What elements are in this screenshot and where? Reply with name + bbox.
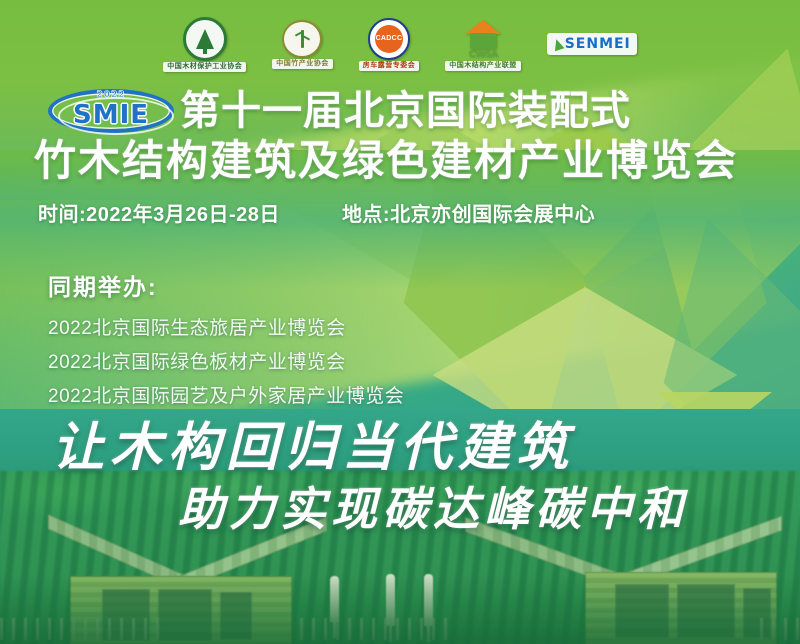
organizer-logo-cwsa: CWSA 中国木结构产业联盟: [445, 18, 521, 71]
house-roof-icon: [461, 18, 505, 52]
organizer-logo-cadcc: CADCC 房车露营专委会: [359, 18, 420, 71]
organizer-name: 中国竹产业协会: [272, 59, 333, 69]
foreground-shadow: [0, 574, 800, 644]
smie-logo: 2022 SMIE: [48, 89, 174, 133]
bamboo-oval-icon: [282, 20, 322, 58]
slogan-line-1: 让木构回归当代建筑: [0, 418, 800, 478]
slogan-line-2: 助力实现碳达峰碳中和: [0, 482, 800, 536]
concurrent-event-item: 2022北京国际绿色板材产业博览会: [48, 346, 404, 380]
organizer-logo-bamboo-industry-association: 中国竹产业协会: [272, 20, 333, 69]
concurrent-event-item: 2022北京国际园艺及户外家居产业博览会: [48, 380, 404, 414]
exhibition-poster: 中国木材保护工业协会 中国竹产业协会 CADCC 房车露营专委会 CWSA 中国…: [0, 0, 800, 644]
slogan-block: 让木构回归当代建筑 助力实现碳达峰碳中和: [0, 418, 800, 536]
tree-in-circle-icon: [183, 17, 227, 61]
page-title-line-2: 竹木结构建筑及绿色建材产业博览会: [0, 136, 800, 186]
headline-block: 2022 SMIE 第十一届北京国际装配式 竹木结构建筑及绿色建材产业博览会 时…: [0, 88, 800, 227]
organizer-name: 房车露营专委会: [359, 61, 420, 71]
concurrent-heading: 同期举办:: [48, 268, 404, 302]
organizer-logo-strip: 中国木材保护工业协会 中国竹产业协会 CADCC 房车露营专委会 CWSA 中国…: [0, 0, 800, 88]
organizer-name: 中国木结构产业联盟: [445, 61, 521, 71]
concurrent-event-item: 2022北京国际生态旅居产业博览会: [48, 312, 404, 346]
cadcc-mark: CADCC: [375, 25, 403, 53]
event-meta: 时间:2022年3月26日-28日 地点:北京亦创国际会展中心: [0, 198, 800, 227]
title-row: 2022 SMIE 第十一届北京国际装配式: [0, 88, 800, 134]
smie-wordmark: SMIE: [73, 100, 149, 130]
organizer-logo-china-wood-protection-association: 中国木材保护工业协会: [163, 17, 246, 72]
cadcc-seal-icon: CADCC: [368, 18, 410, 60]
organizer-name: 中国木材保护工业协会: [163, 62, 246, 72]
event-date: 时间:2022年3月26日-28日: [38, 198, 280, 227]
senmei-wordmark: SENMEI: [565, 36, 631, 52]
organizer-logo-senmei: SENMEI: [547, 33, 637, 55]
page-title-line-1: 第十一届北京国际装配式: [180, 88, 631, 134]
smie-year: 2022: [96, 90, 125, 100]
leaf-icon: [551, 37, 564, 51]
concurrent-events-block: 同期举办: 2022北京国际生态旅居产业博览会 2022北京国际绿色板材产业博览…: [48, 268, 404, 414]
leaf-wordmark-icon: SENMEI: [547, 33, 637, 55]
event-venue: 地点:北京亦创国际会展中心: [342, 198, 595, 227]
